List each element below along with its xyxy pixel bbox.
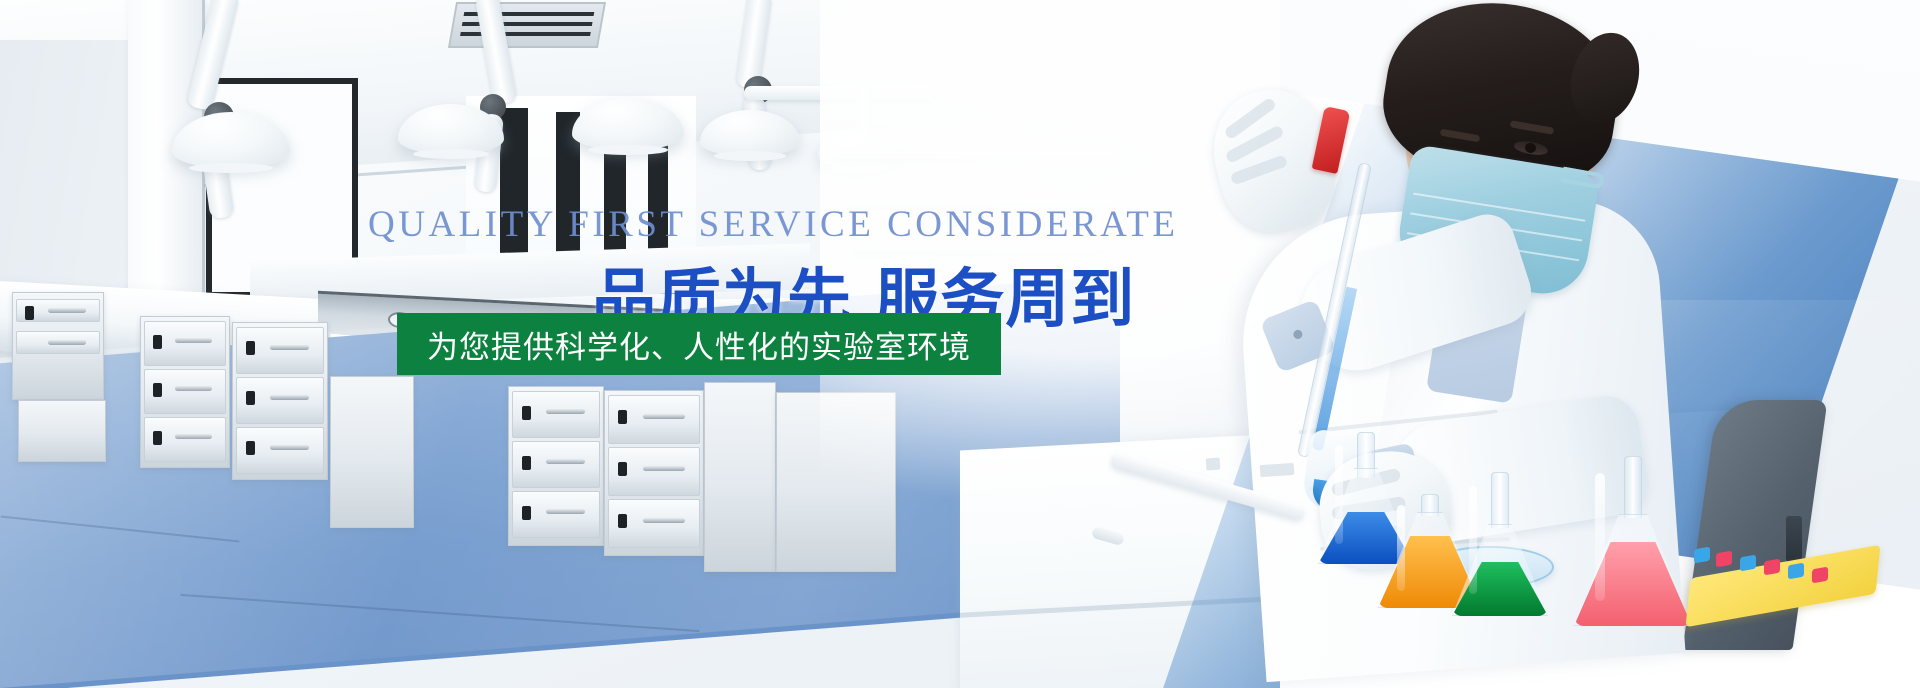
tube-cap-2 (1716, 551, 1732, 568)
tube-cap-6 (1812, 567, 1828, 584)
erlenmeyer-flask-green (1452, 472, 1548, 616)
tube-cap-1 (1694, 547, 1710, 564)
cabinet-door-center (330, 376, 414, 528)
erlenmeyer-flask-pink (1574, 456, 1692, 626)
drawer-bank-1 (140, 316, 230, 468)
cabinet-far-left-lower (18, 400, 106, 462)
cabinet-end-panel (704, 382, 776, 572)
banner-subtitle-text: 为您提供科学化、人性化的实验室环境 (427, 322, 971, 367)
drawer-bank-2 (232, 322, 328, 480)
cabinet-far-left (12, 292, 104, 400)
tube-cap-4 (1764, 559, 1780, 576)
microscope-slide (1260, 463, 1295, 477)
banner-tagline-english: QUALITY FIRST SERVICE CONSIDERATE (368, 203, 1178, 246)
lab-hero-banner: QUALITY FIRST SERVICE CONSIDERATE 品质为先 服… (0, 0, 1920, 688)
tube-cap-5 (1788, 563, 1804, 580)
tube-cap-3 (1740, 555, 1756, 572)
drawer-bank-4 (604, 390, 704, 556)
ceiling-ac-diffuser (448, 2, 606, 48)
microscope-slide-small (1206, 458, 1221, 471)
drawer-bank-3 (508, 386, 604, 546)
banner-subtitle-bar: 为您提供科学化、人性化的实验室环境 (397, 313, 1001, 375)
